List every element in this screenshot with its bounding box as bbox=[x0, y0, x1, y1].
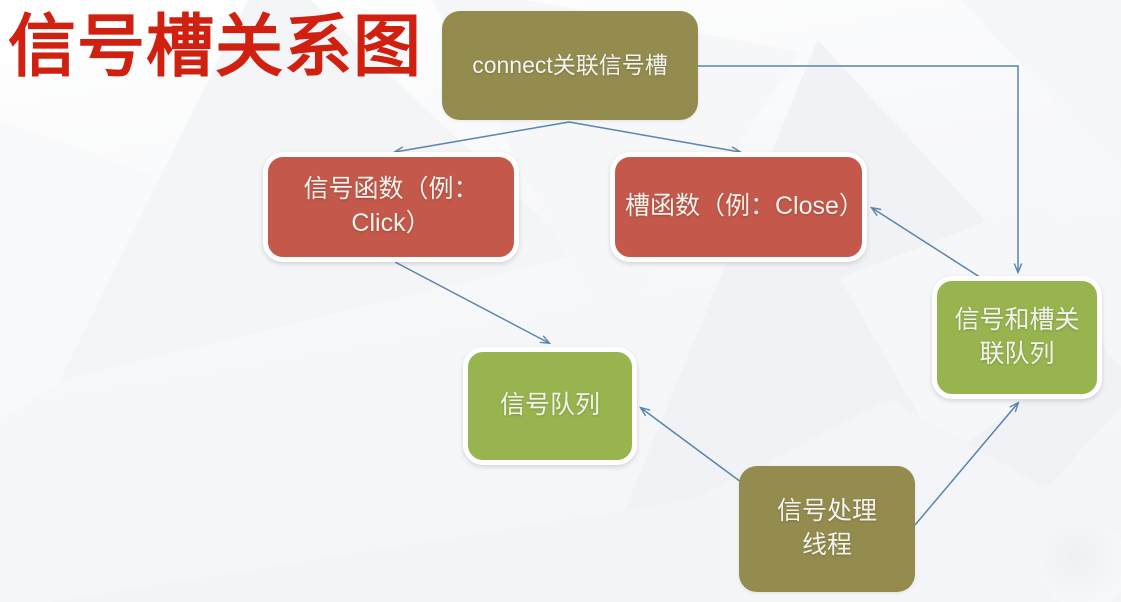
node-connect[interactable]: connect关联信号槽 bbox=[442, 11, 698, 120]
node-connect-label: connect关联信号槽 bbox=[472, 50, 668, 81]
connector-connect-to-signal-function bbox=[395, 122, 569, 152]
node-signal-processing-thread[interactable]: 信号处理 线程 bbox=[739, 466, 915, 592]
slide-canvas: 信号槽关系图 connect关联信号槽 信号函数（例：Click） 槽函数（例：… bbox=[0, 0, 1121, 602]
connector-connect-to-slot-function bbox=[569, 122, 740, 152]
node-signal-slot-association-queue-label: 信号和槽关 联队列 bbox=[954, 304, 1079, 372]
connector-signal-function-to-signal-queue bbox=[395, 262, 549, 343]
node-signal-processing-thread-label: 信号处理 线程 bbox=[777, 495, 877, 563]
connector-thread-to-association-queue bbox=[915, 403, 1018, 525]
node-signal-function-label: 信号函数（例：Click） bbox=[278, 173, 504, 241]
node-signal-queue[interactable]: 信号队列 bbox=[463, 347, 637, 465]
connector-thread-to-signal-queue bbox=[641, 408, 745, 485]
background-corner-circle bbox=[1040, 520, 1121, 602]
background-facet-left bbox=[0, 120, 300, 420]
background-facet-lower-left bbox=[0, 470, 720, 602]
node-slot-function-label: 槽函数（例：Close） bbox=[625, 190, 852, 224]
page-title: 信号槽关系图 bbox=[8, 10, 422, 86]
node-signal-function[interactable]: 信号函数（例：Click） bbox=[263, 152, 519, 262]
background-facet-upper-right bbox=[960, 0, 1121, 180]
node-slot-function[interactable]: 槽函数（例：Close） bbox=[610, 152, 867, 262]
node-signal-queue-label: 信号队列 bbox=[500, 389, 600, 423]
node-signal-slot-association-queue[interactable]: 信号和槽关 联队列 bbox=[932, 276, 1102, 399]
